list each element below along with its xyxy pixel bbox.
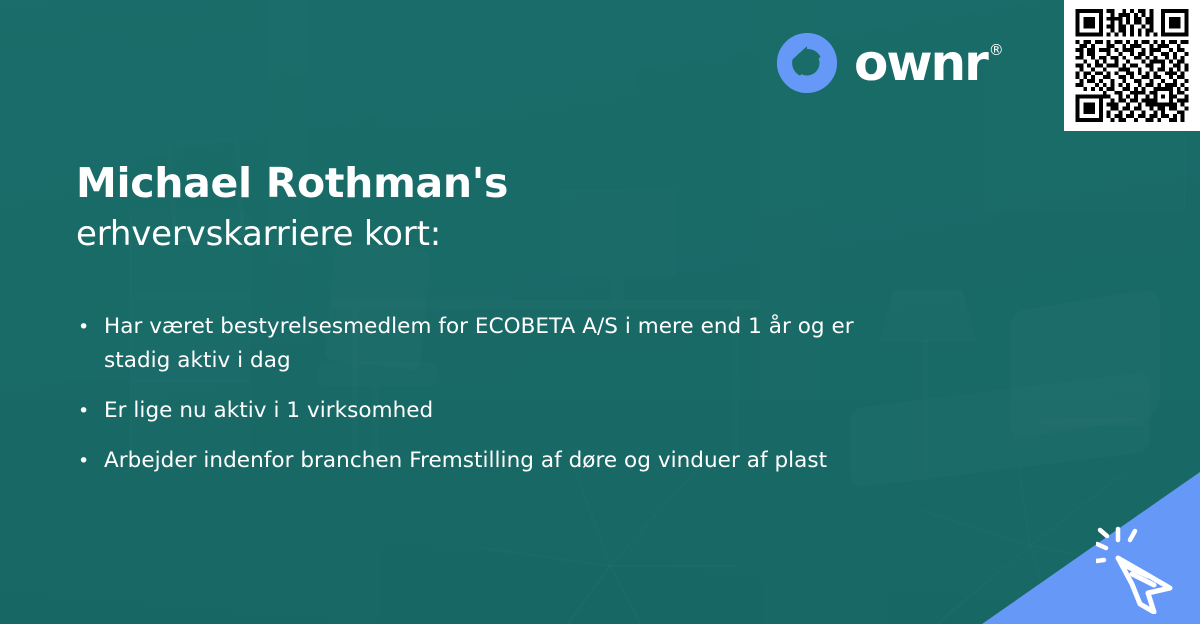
bullet-marker-icon: •	[78, 444, 104, 478]
list-item-text: Arbejder indenfor branchen Fremstilling …	[104, 444, 898, 478]
ownr-logo[interactable]: ownr ®	[776, 30, 1004, 96]
ownr-circle-swoosh-icon	[776, 32, 838, 94]
click-cursor-icon	[1096, 518, 1188, 614]
page-title-line1: Michael Rothman's	[76, 156, 508, 210]
list-item-text: Er lige nu aktiv i 1 virksomhed	[104, 394, 898, 428]
list-item: • Er lige nu aktiv i 1 virksomhed	[78, 394, 898, 428]
qr-code-panel[interactable]	[1064, 0, 1200, 131]
qr-code-icon	[1073, 9, 1191, 122]
list-item: • Har været bestyrelsesmedlem for ECOBET…	[78, 310, 898, 378]
registered-trademark-symbol: ®	[989, 41, 1004, 59]
list-item: • Arbejder indenfor branchen Fremstillin…	[78, 444, 898, 478]
business-card-banner: ownr ®	[0, 0, 1200, 624]
list-item-text: Har været bestyrelsesmedlem for ECOBETA …	[104, 310, 898, 378]
bullet-marker-icon: •	[78, 310, 104, 378]
career-summary-list: • Har været bestyrelsesmedlem for ECOBET…	[78, 310, 898, 494]
page-title: Michael Rothman's erhvervskarriere kort:	[76, 156, 508, 258]
bullet-marker-icon: •	[78, 394, 104, 428]
ownr-wordmark-text: ownr	[854, 37, 987, 89]
ownr-wordmark: ownr ®	[854, 37, 1004, 89]
page-title-line2: erhvervskarriere kort:	[76, 210, 508, 258]
